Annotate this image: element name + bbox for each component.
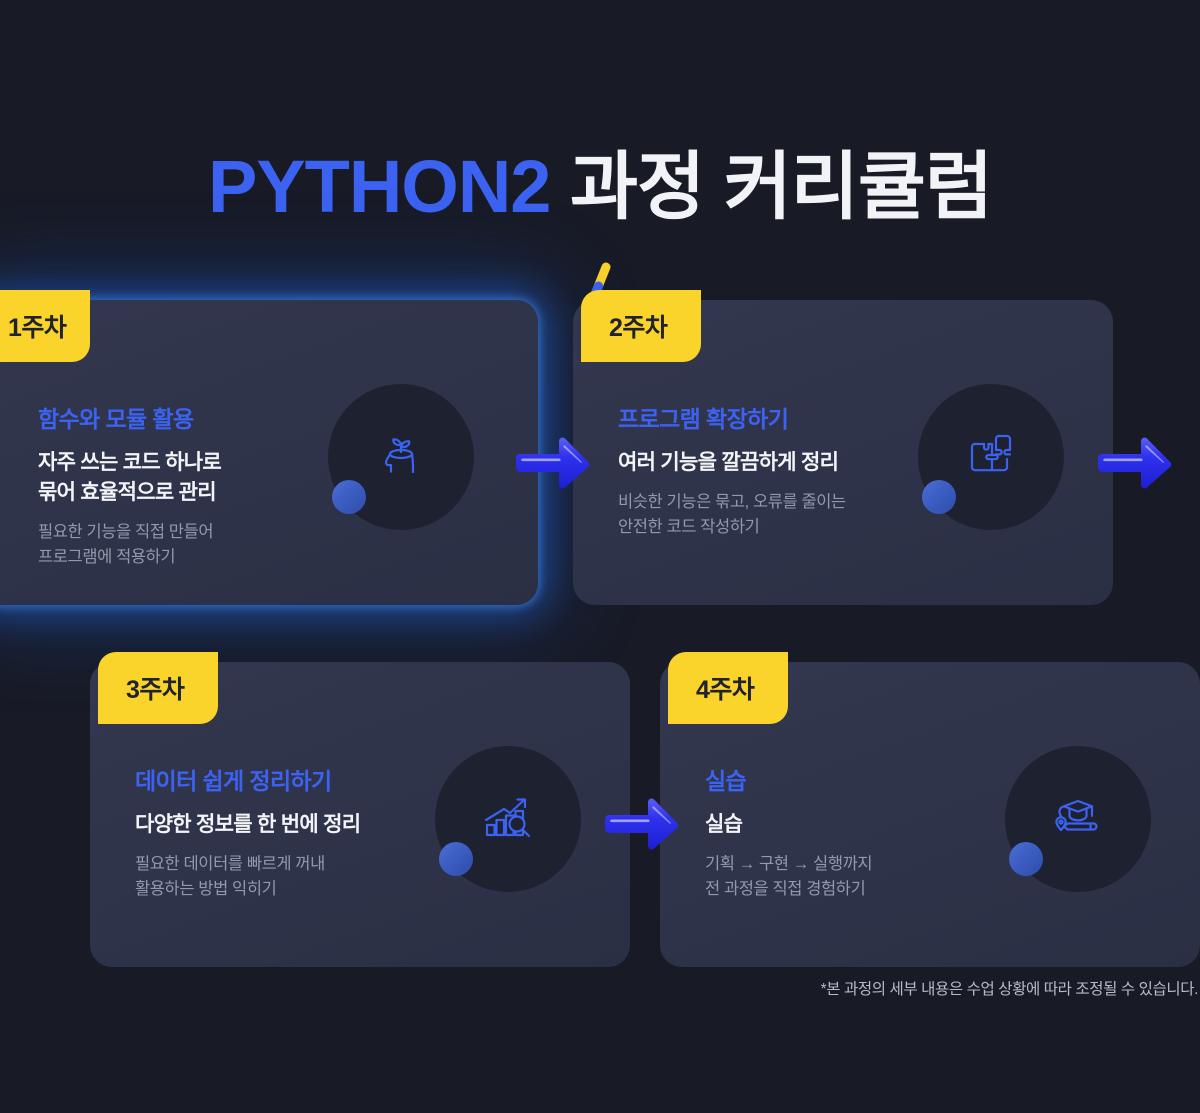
card-heading: 프로그램 확장하기	[618, 400, 846, 434]
arrow-week1-to-week2-icon	[515, 432, 593, 494]
card-text-block: 프로그램 확장하기 여러 기능을 깔끔하게 정리 비슷한 기능은 묶고, 오류를…	[618, 400, 846, 541]
arrow-week2-to-week3-icon	[1097, 432, 1175, 494]
week-card-1[interactable]: 1주차 함수와 모듈 활용 자주 쓰는 코드 하나로 묶어 효율적으로 관리 필…	[0, 300, 538, 605]
footnote-disclaimer: *본 과정의 세부 내용은 수업 상황에 따라 조정될 수 있습니다.	[821, 977, 1198, 999]
bar-chart-search-icon	[478, 789, 538, 849]
curriculum-infographic: PYTHON2 과정 커리큘럼 1주차 함수와 모듈 활용 자주 쓰는 코드 하…	[0, 0, 1200, 1113]
card-text-block: 실습 실습 기획 → 구현 → 실행까지 전 과정을 직접 경험하기	[705, 762, 872, 903]
week-badge: 2주차	[581, 290, 701, 362]
card-description: 비슷한 기능은 묶고, 오류를 줄이는 안전한 코드 작성하기	[618, 490, 846, 541]
accent-dot	[332, 480, 366, 514]
card-subtitle: 다양한 정보를 한 번에 정리	[135, 810, 360, 840]
card-subtitle: 실습	[705, 810, 872, 840]
week-badge: 4주차	[668, 652, 788, 724]
icon-medallion	[328, 384, 474, 530]
week-card-2[interactable]: 2주차 프로그램 확장하기 여러 기능을 깔끔하게 정리 비슷한 기능은 묶고,…	[573, 300, 1113, 605]
arrow-week3-to-week4-icon	[604, 793, 682, 855]
week-badge: 3주차	[98, 652, 218, 724]
icon-medallion	[918, 384, 1064, 530]
graduation-cap-pin-icon	[1048, 789, 1108, 849]
card-heading: 함수와 모듈 활용	[38, 400, 221, 434]
title-plain-text: 과정 커리큘럼	[550, 145, 992, 228]
card-subtitle: 자주 쓰는 코드 하나로 묶어 효율적으로 관리	[38, 448, 221, 508]
puzzle-pieces-icon	[962, 428, 1020, 486]
card-description: 기획 → 구현 → 실행까지 전 과정을 직접 경험하기	[705, 852, 872, 903]
card-text-block: 데이터 쉽게 정리하기 다양한 정보를 한 번에 정리 필요한 데이터를 빠르게…	[135, 762, 360, 903]
card-subtitle: 여러 기능을 깔끔하게 정리	[618, 448, 846, 478]
page-title: PYTHON2 과정 커리큘럼	[0, 150, 1200, 224]
accent-dot	[922, 480, 956, 514]
card-text-block: 함수와 모듈 활용 자주 쓰는 코드 하나로 묶어 효율적으로 관리 필요한 기…	[38, 400, 221, 571]
card-heading: 실습	[705, 762, 872, 796]
accent-dot	[1009, 842, 1043, 876]
card-description: 필요한 데이터를 빠르게 꺼내 활용하는 방법 익히기	[135, 852, 360, 903]
icon-medallion	[1005, 746, 1151, 892]
title-accent-text: PYTHON2	[208, 145, 551, 228]
icon-medallion	[435, 746, 581, 892]
card-description: 필요한 기능을 직접 만들어 프로그램에 적용하기	[38, 520, 221, 571]
accent-dot	[439, 842, 473, 876]
head-sprout-icon	[370, 426, 432, 488]
week-badge: 1주차	[0, 290, 90, 362]
week-card-3[interactable]: 3주차 데이터 쉽게 정리하기 다양한 정보를 한 번에 정리 필요한 데이터를…	[90, 662, 630, 967]
card-heading: 데이터 쉽게 정리하기	[135, 762, 360, 796]
week-card-4[interactable]: 4주차 실습 실습 기획 → 구현 → 실행까지 전 과정을 직접 경험하기	[660, 662, 1200, 967]
